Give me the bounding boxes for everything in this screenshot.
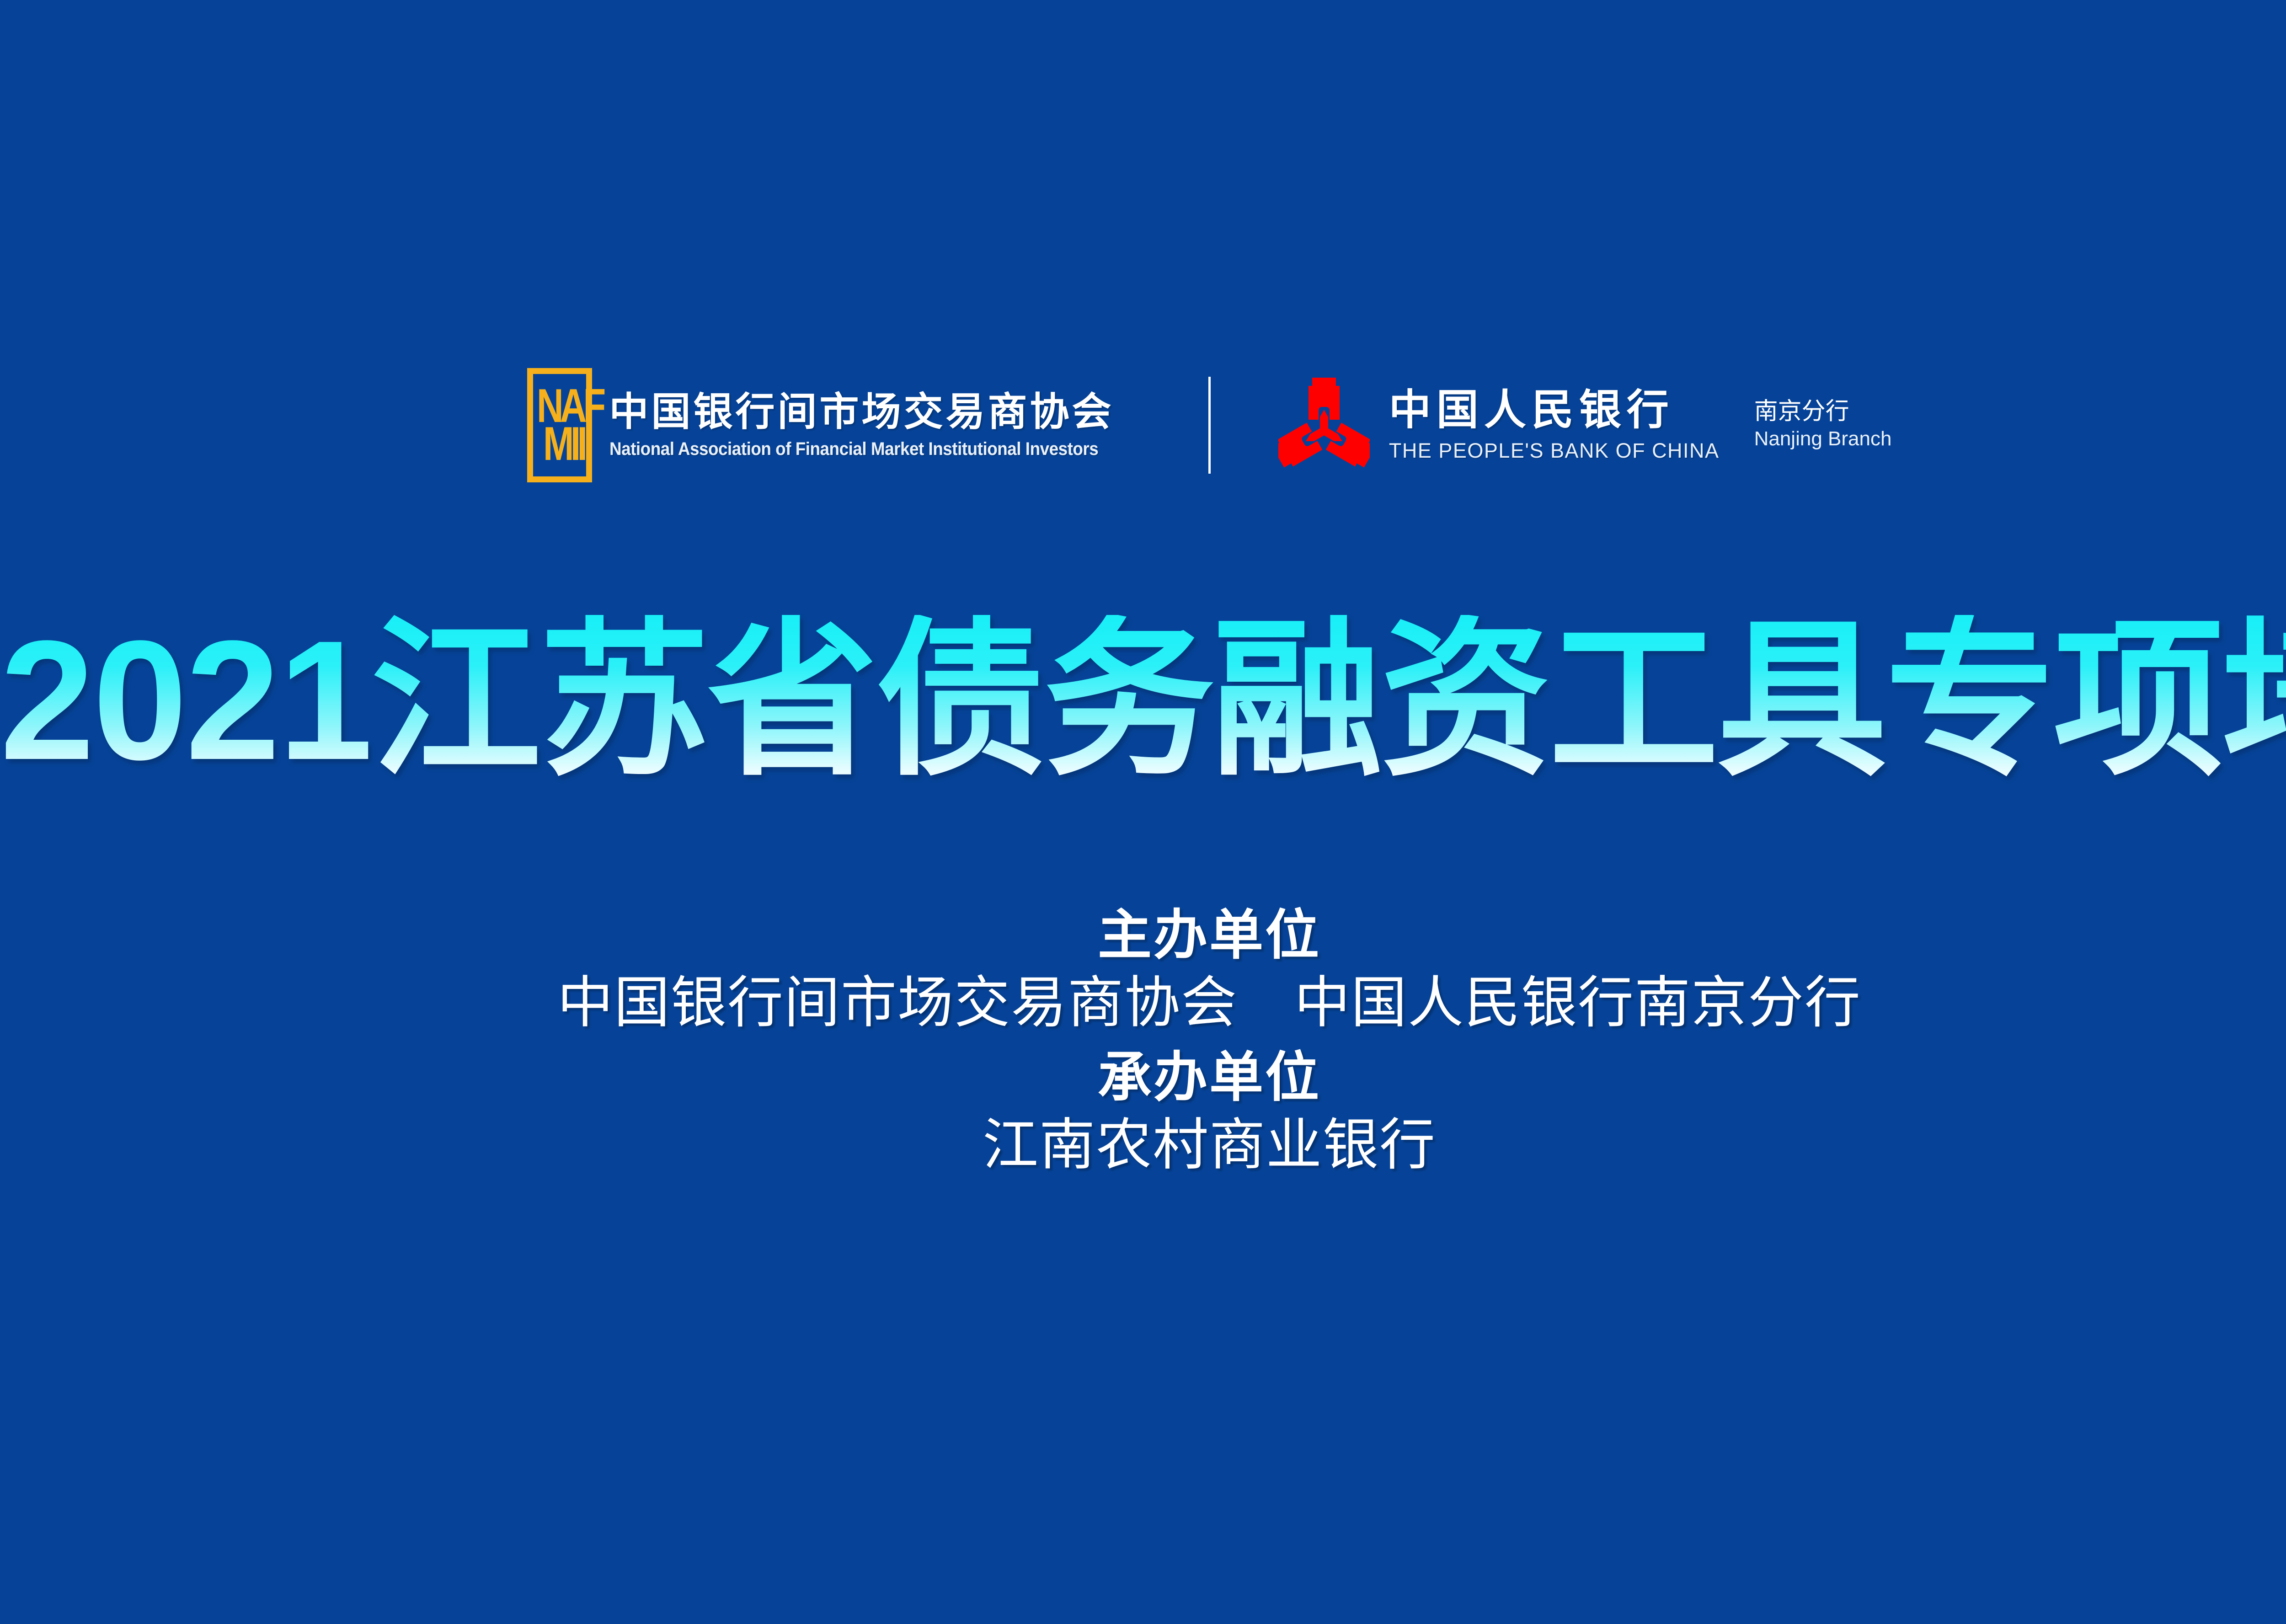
organizer-organizations: 江南农村商业银行 xyxy=(0,1111,2286,1179)
logo-divider xyxy=(1208,377,1211,474)
pboc-name-block: 中国人民银行 THE PEOPLE'S BANK OF CHINA xyxy=(1389,387,1720,463)
credits-spacer xyxy=(0,1037,2286,1045)
nafmii-name-en: National Association of Financial Market… xyxy=(609,438,1098,460)
logo-bar: NAF MII 中国银行间市场交易商协会 National Associatio… xyxy=(0,357,2286,494)
organizer-label: 承办单位 xyxy=(0,1045,2286,1111)
pboc-name-cn: 中国人民银行 xyxy=(1389,387,1720,433)
nafmii-name-cn: 中国银行间市场交易商协会 xyxy=(609,390,1141,434)
pboc-branch-en: Nanjing Branch xyxy=(1754,427,1892,451)
nafmii-logo-lockup: NAF MII 中国银行间市场交易商协会 National Associatio… xyxy=(527,368,1141,482)
host-label: 主办单位 xyxy=(0,903,2286,969)
nafmii-name-block: 中国银行间市场交易商协会 National Association of Fin… xyxy=(609,390,1141,460)
nafmii-mark-line-bottom: MII xyxy=(543,425,584,463)
logo-group: NAF MII 中国银行间市场交易商协会 National Associatio… xyxy=(527,368,1892,482)
nafmii-logo-icon: NAF MII xyxy=(527,368,592,482)
page-title: 2021江苏省债务融资工具专项培训 xyxy=(0,615,2286,785)
pboc-logo-lockup: 中国人民银行 THE PEOPLE'S BANK OF CHINA 南京分行 N… xyxy=(1278,370,1892,480)
pboc-name-en: THE PEOPLE'S BANK OF CHINA xyxy=(1389,438,1720,463)
pboc-branch-cn: 南京分行 xyxy=(1754,397,1892,426)
credits-block: 主办单位 中国银行间市场交易商协会 中国人民银行南京分行 承办单位 江南农村商业… xyxy=(0,903,2286,1179)
host-organizations: 中国银行间市场交易商协会 中国人民银行南京分行 xyxy=(0,969,2286,1037)
pboc-branch-block: 南京分行 Nanjing Branch xyxy=(1754,397,1892,453)
pboc-logo-icon xyxy=(1278,370,1370,480)
